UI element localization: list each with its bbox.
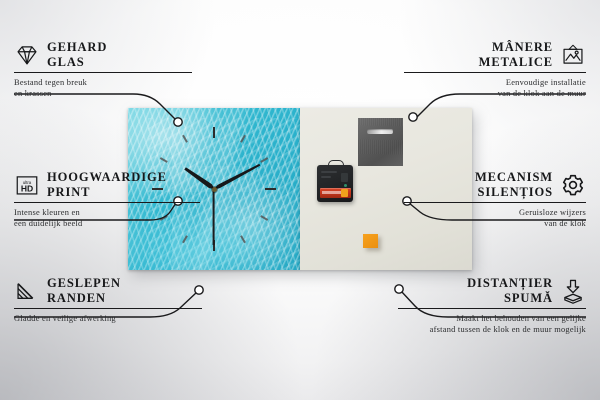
feature-subtitle-2: een duidelijk beeld	[14, 218, 200, 229]
gear-icon	[560, 172, 586, 198]
feature-header: DISTANȚIER SPUMĂ	[398, 276, 586, 305]
dial-tick-12	[213, 127, 215, 189]
feature-header: ultra HD HOOGWAARDIGE PRINT	[14, 170, 200, 199]
movement-detail-2	[321, 176, 331, 178]
clock-movement	[317, 165, 353, 202]
feature-header: MÂNERE METALICE	[404, 40, 586, 69]
feature-title: GEHARD GLAS	[47, 40, 107, 69]
feature-mecanism-silentios: MECANISM SILENȚIOS Geruisloze wijzers va…	[404, 170, 586, 229]
feature-subtitle-2: en krassen	[14, 88, 192, 99]
hanger-grain	[358, 118, 403, 166]
movement-detail-3	[341, 173, 348, 182]
movement-detail-1	[321, 171, 337, 173]
feature-distantier-spuma: DISTANȚIER SPUMĂ Maakt het behouden van …	[398, 276, 586, 335]
infographic-canvas: GEHARD GLAS Bestand tegen breuk en krass…	[0, 0, 600, 400]
press-down-pad-icon	[560, 278, 586, 304]
feature-manere-metalice: MÂNERE METALICE Eenvoudige installatie v…	[404, 40, 586, 99]
feature-title: MÂNERE METALICE	[479, 40, 553, 69]
feature-title: MECANISM SILENȚIOS	[475, 170, 553, 199]
feature-subtitle-1: Maakt het behouden van een gelijke	[398, 313, 586, 324]
second-hand	[213, 189, 215, 245]
movement-hook	[328, 160, 344, 169]
feature-header: GEHARD GLAS	[14, 40, 192, 69]
feature-subtitle-1: Eenvoudige installatie	[404, 77, 586, 88]
feature-subtitle-1: Bestand tegen breuk	[14, 77, 192, 88]
feature-rule	[404, 72, 586, 73]
feature-subtitle-2: van de klok aan de muur	[404, 88, 586, 99]
feature-title: HOOGWAARDIGE PRINT	[47, 170, 167, 199]
feature-subtitle-1: Intense kleuren en	[14, 207, 200, 218]
bevelled-edge-icon	[14, 278, 40, 304]
svg-text:HD: HD	[21, 183, 33, 193]
hanger-slot	[367, 129, 393, 134]
battery-label-stripe	[322, 191, 341, 194]
feature-header: MECANISM SILENȚIOS	[404, 170, 586, 199]
foam-spacer	[363, 234, 378, 248]
movement-led	[344, 184, 347, 187]
ultra-hd-icon: ultra HD	[14, 172, 40, 198]
picture-frame-icon	[560, 42, 586, 68]
hand-cap	[212, 187, 217, 192]
feature-header: GESLEPEN RANDEN	[14, 276, 202, 305]
feature-rule	[14, 202, 200, 203]
metal-hanger	[358, 118, 403, 166]
feature-subtitle-2: van de klok	[404, 218, 586, 229]
dial-tick-3	[214, 188, 276, 190]
feature-subtitle-2: afstand tussen de klok en de muur mogeli…	[398, 324, 586, 335]
diamond-icon	[14, 42, 40, 68]
feature-rule	[14, 72, 192, 73]
feature-rule	[404, 202, 586, 203]
feature-geslepen-randen: GESLEPEN RANDEN Gladde en veilige afwerk…	[14, 276, 202, 324]
feature-gehard-glas: GEHARD GLAS Bestand tegen breuk en krass…	[14, 40, 192, 99]
feature-subtitle-1: Gladde en veilige afwerking	[14, 313, 202, 324]
feature-rule	[14, 308, 202, 309]
feature-title: DISTANȚIER SPUMĂ	[467, 276, 553, 305]
feature-subtitle-1: Geruisloze wijzers	[404, 207, 586, 218]
feature-rule	[398, 308, 586, 309]
feature-hoogwaardige-print: ultra HD HOOGWAARDIGE PRINT Intense kleu…	[14, 170, 200, 229]
battery-plus-terminal	[341, 189, 348, 197]
battery	[320, 188, 351, 198]
feature-title: GESLEPEN RANDEN	[47, 276, 121, 305]
